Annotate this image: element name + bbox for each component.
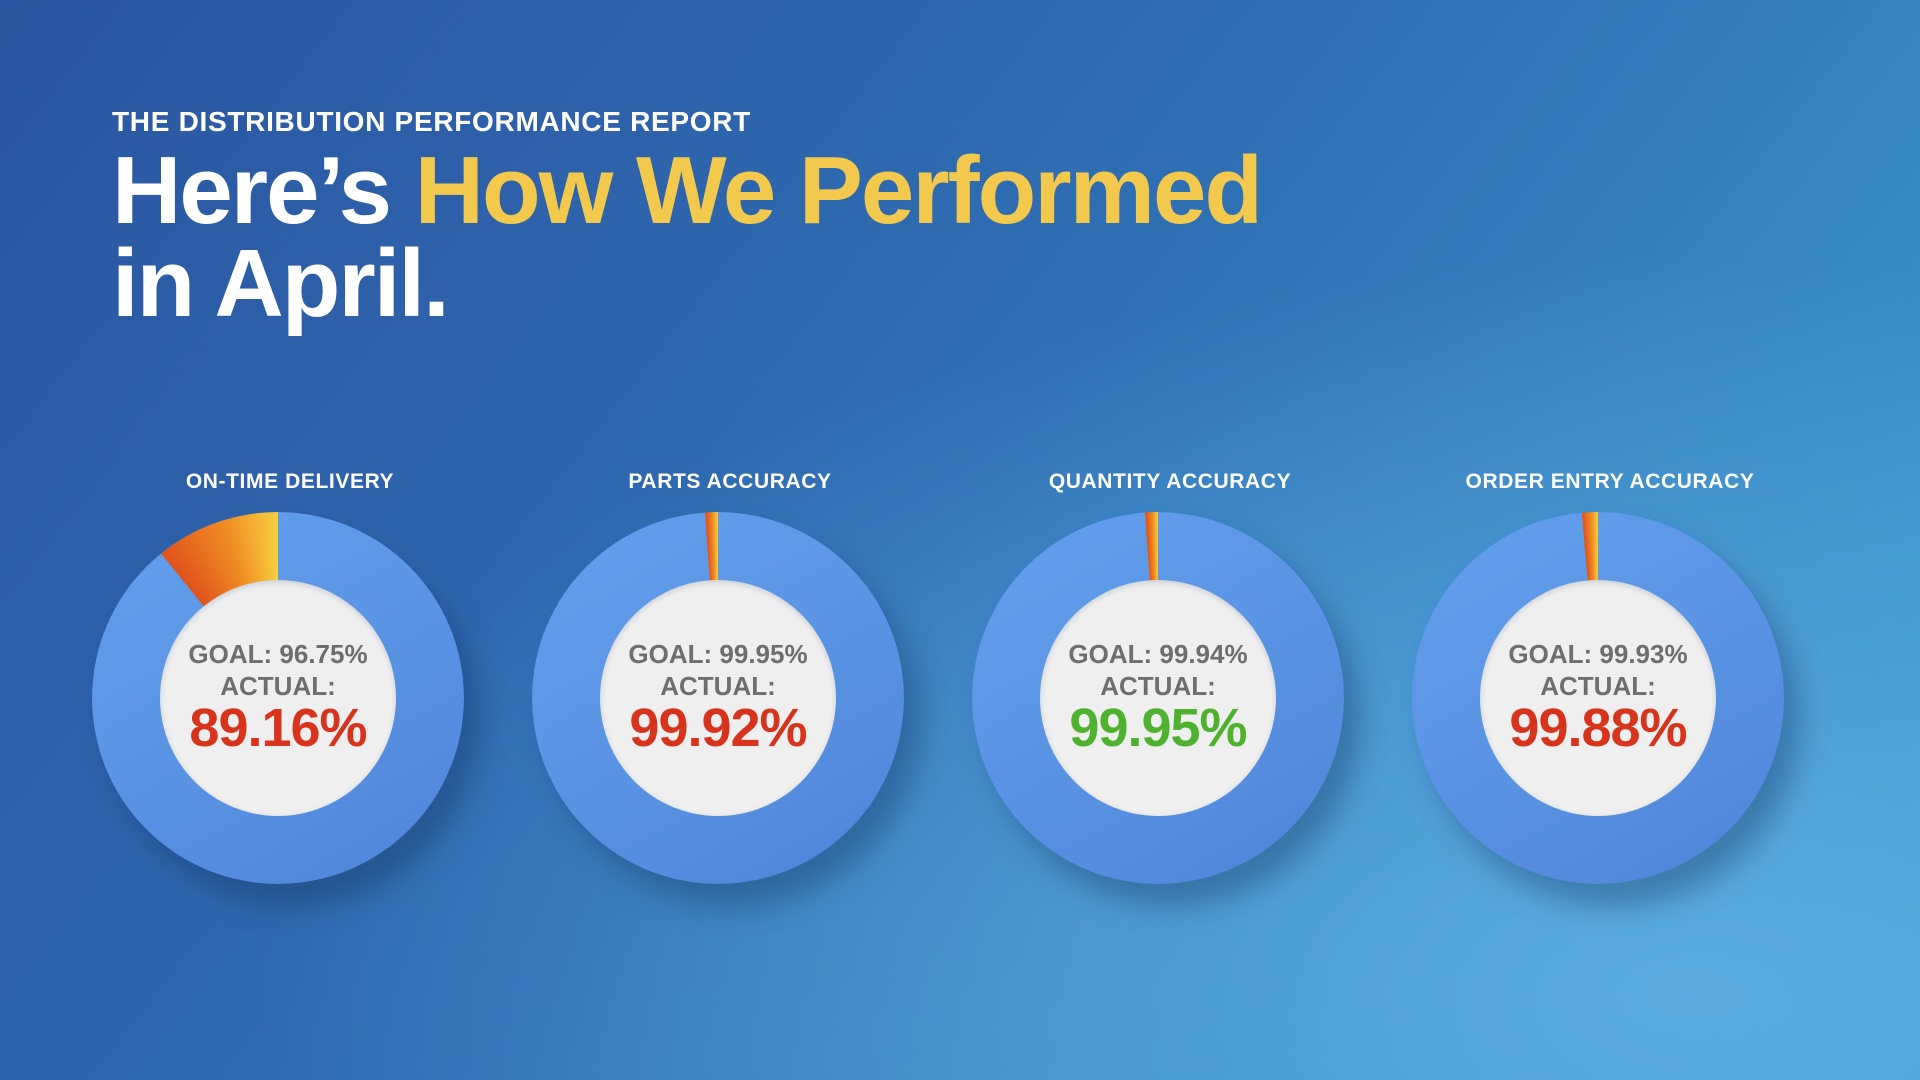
gauge-title: ORDER ENTRY ACCURACY [1466, 470, 1755, 494]
donut-ring: GOAL: 99.94%ACTUAL:99.95% [972, 512, 1344, 884]
donut-center: GOAL: 96.75%ACTUAL:89.16% [160, 580, 396, 816]
headline-line-2: in April. [112, 237, 1512, 330]
goal-label: GOAL: 99.94% [1068, 640, 1247, 670]
report-canvas: THE DISTRIBUTION PERFORMANCE REPORT Here… [0, 0, 1920, 1080]
gauge-4: ORDER ENTRY ACCURACYGOAL: 99.93%ACTUAL:9… [1390, 470, 1830, 908]
gauge-row: ON-TIME DELIVERYGOAL: 96.75%ACTUAL:89.16… [0, 470, 1920, 908]
page-title: Here’s How We Performed in April. [112, 144, 1512, 330]
donut-center: GOAL: 99.93%ACTUAL:99.88% [1480, 580, 1716, 816]
gauge-2: PARTS ACCURACYGOAL: 99.95%ACTUAL:99.92% [510, 470, 950, 908]
gauge-title: PARTS ACCURACY [628, 470, 831, 494]
donut-chart: GOAL: 99.93%ACTUAL:99.88% [1412, 512, 1808, 908]
gauge-1: ON-TIME DELIVERYGOAL: 96.75%ACTUAL:89.16… [70, 470, 510, 908]
report-eyebrow: THE DISTRIBUTION PERFORMANCE REPORT [112, 108, 1512, 136]
donut-chart: GOAL: 96.75%ACTUAL:89.16% [92, 512, 488, 908]
actual-value: 99.88% [1509, 700, 1686, 757]
actual-value: 89.16% [189, 700, 366, 757]
gauge-title: ON-TIME DELIVERY [186, 470, 394, 494]
header-block: THE DISTRIBUTION PERFORMANCE REPORT Here… [112, 108, 1512, 330]
donut-ring: GOAL: 96.75%ACTUAL:89.16% [92, 512, 464, 884]
donut-ring: GOAL: 99.95%ACTUAL:99.92% [532, 512, 904, 884]
donut-center: GOAL: 99.94%ACTUAL:99.95% [1040, 580, 1276, 816]
goal-label: GOAL: 99.95% [628, 640, 807, 670]
goal-label: GOAL: 99.93% [1508, 640, 1687, 670]
donut-ring: GOAL: 99.93%ACTUAL:99.88% [1412, 512, 1784, 884]
donut-chart: GOAL: 99.94%ACTUAL:99.95% [972, 512, 1368, 908]
donut-chart: GOAL: 99.95%ACTUAL:99.92% [532, 512, 928, 908]
goal-label: GOAL: 96.75% [188, 640, 367, 670]
headline-white-part: Here’s [112, 137, 415, 244]
gauge-3: QUANTITY ACCURACYGOAL: 99.94%ACTUAL:99.9… [950, 470, 1390, 908]
actual-value: 99.95% [1069, 700, 1246, 757]
donut-center: GOAL: 99.95%ACTUAL:99.92% [600, 580, 836, 816]
gauge-title: QUANTITY ACCURACY [1049, 470, 1291, 494]
actual-value: 99.92% [629, 700, 806, 757]
headline-line-1: Here’s How We Performed [112, 144, 1512, 237]
headline-gold-part: How We Performed [415, 137, 1261, 244]
